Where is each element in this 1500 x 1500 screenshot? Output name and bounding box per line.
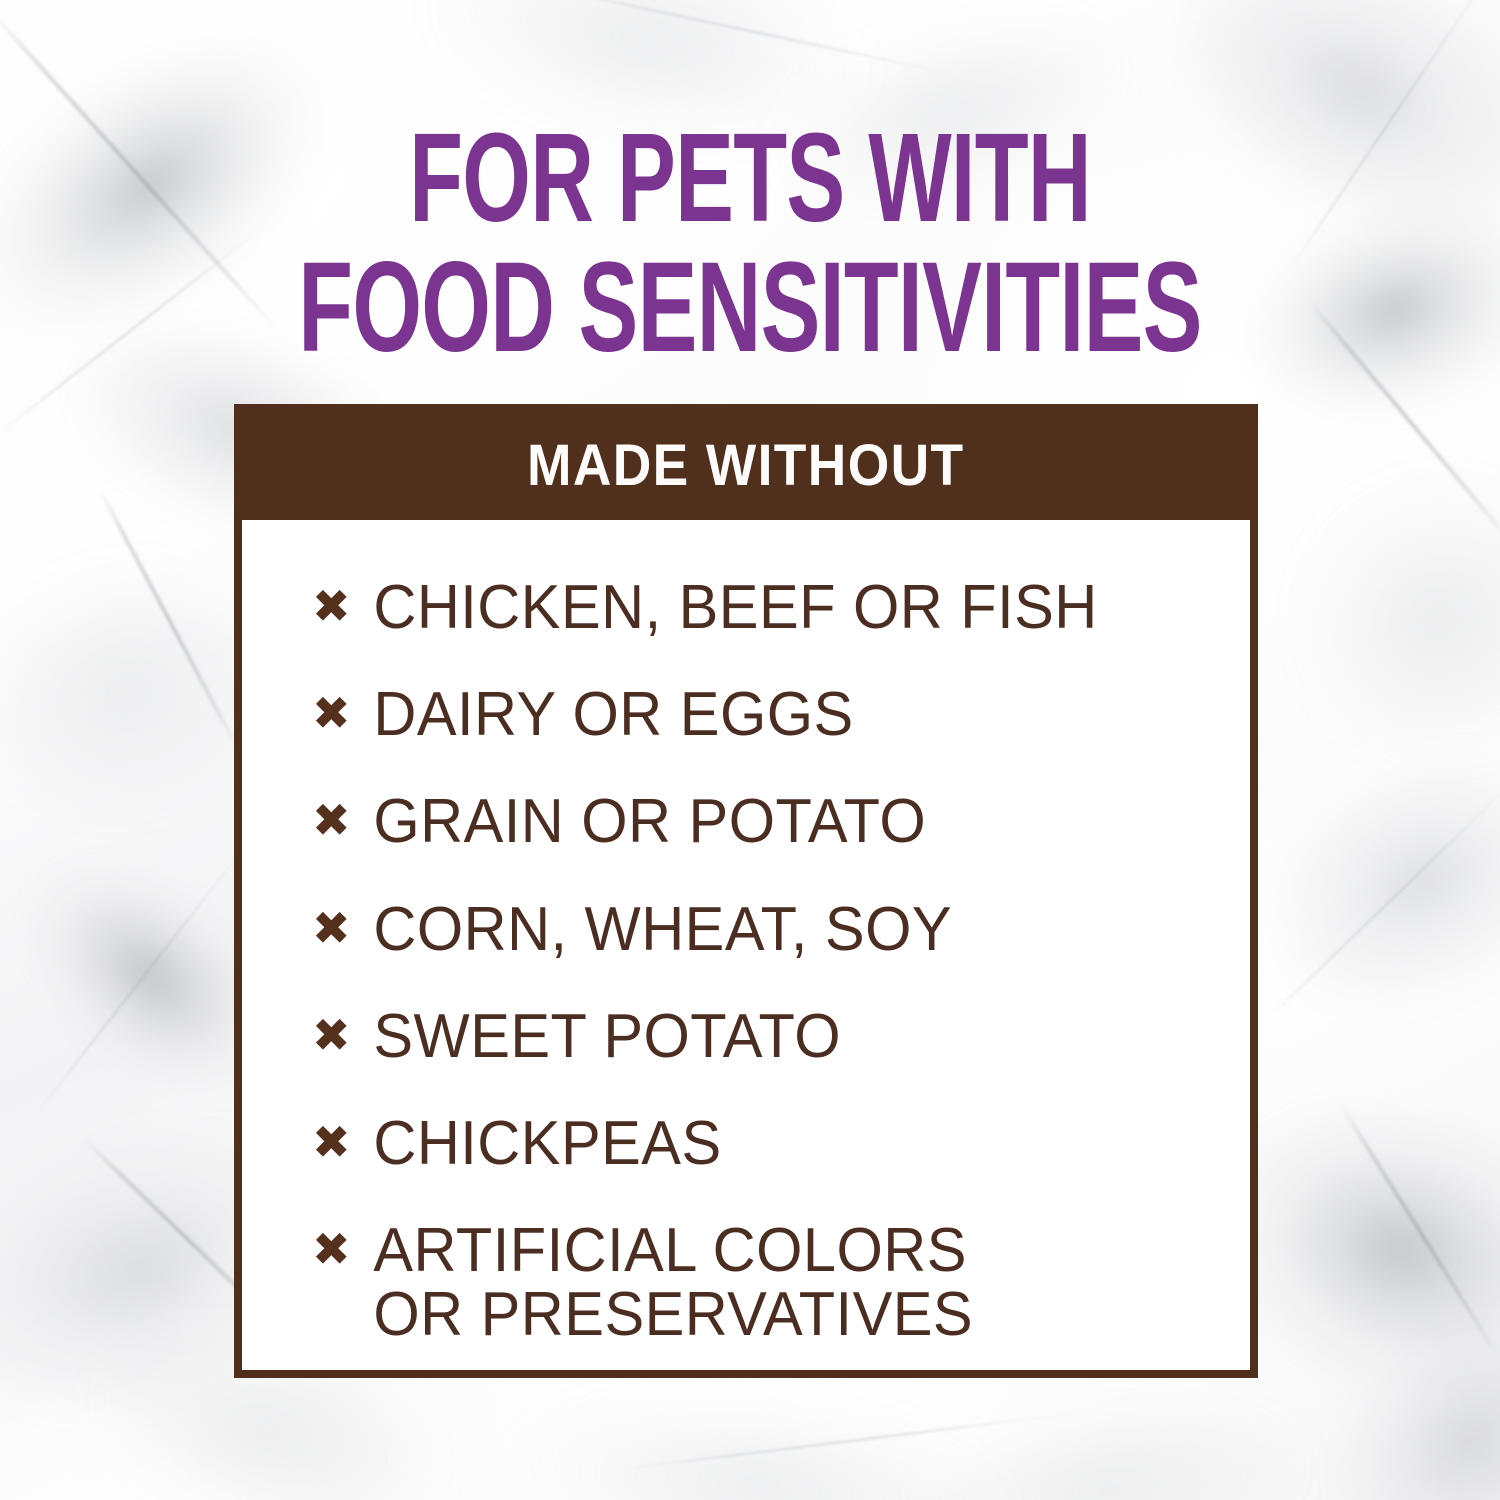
list-item: ✖ CORN, WHEAT, SOY (312, 898, 1250, 961)
list-item-label: DAIRY OR EGGS (358, 683, 1214, 746)
x-mark-icon: ✖ (312, 1007, 358, 1063)
list-item-label: CORN, WHEAT, SOY (358, 898, 1214, 961)
made-without-card: MADE WITHOUT ✖ CHICKEN, BEEF OR FISH ✖ D… (234, 404, 1258, 1378)
page-title-line-1: FOR PETS WITH (225, 118, 1275, 239)
list-item: ✖ ARTIFICIAL COLORS OR PRESERVATIVES (312, 1219, 1250, 1345)
x-mark-icon: ✖ (312, 1221, 358, 1277)
card-header: MADE WITHOUT (234, 404, 1258, 520)
x-mark-icon: ✖ (312, 900, 358, 956)
list-item: ✖ SWEET POTATO (312, 1005, 1250, 1068)
page-title: FOR PETS WITH FOOD SENSITIVITIES (0, 118, 1500, 370)
product-claims-graphic: FOR PETS WITH FOOD SENSITIVITIES MADE WI… (0, 0, 1500, 1500)
list-item: ✖ CHICKPEAS (312, 1112, 1250, 1175)
page-title-line-2: FOOD SENSITIVITIES (225, 247, 1275, 370)
list-item-label: SWEET POTATO (358, 1005, 1214, 1068)
x-mark-icon: ✖ (312, 1114, 358, 1170)
x-mark-icon: ✖ (312, 578, 358, 634)
list-item-label: GRAIN OR POTATO (358, 790, 1214, 853)
list-item: ✖ CHICKEN, BEEF OR FISH (312, 576, 1250, 639)
list-item-label: ARTIFICIAL COLORS OR PRESERVATIVES (358, 1219, 1214, 1345)
list-item-label: CHICKEN, BEEF OR FISH (358, 576, 1214, 639)
made-without-list: ✖ CHICKEN, BEEF OR FISH ✖ DAIRY OR EGGS … (242, 520, 1250, 1346)
list-item: ✖ DAIRY OR EGGS (312, 683, 1250, 746)
x-mark-icon: ✖ (312, 792, 358, 848)
list-item: ✖ GRAIN OR POTATO (312, 790, 1250, 853)
x-mark-icon: ✖ (312, 685, 358, 741)
card-header-title: MADE WITHOUT (527, 437, 964, 495)
list-item-label: CHICKPEAS (358, 1112, 1214, 1175)
